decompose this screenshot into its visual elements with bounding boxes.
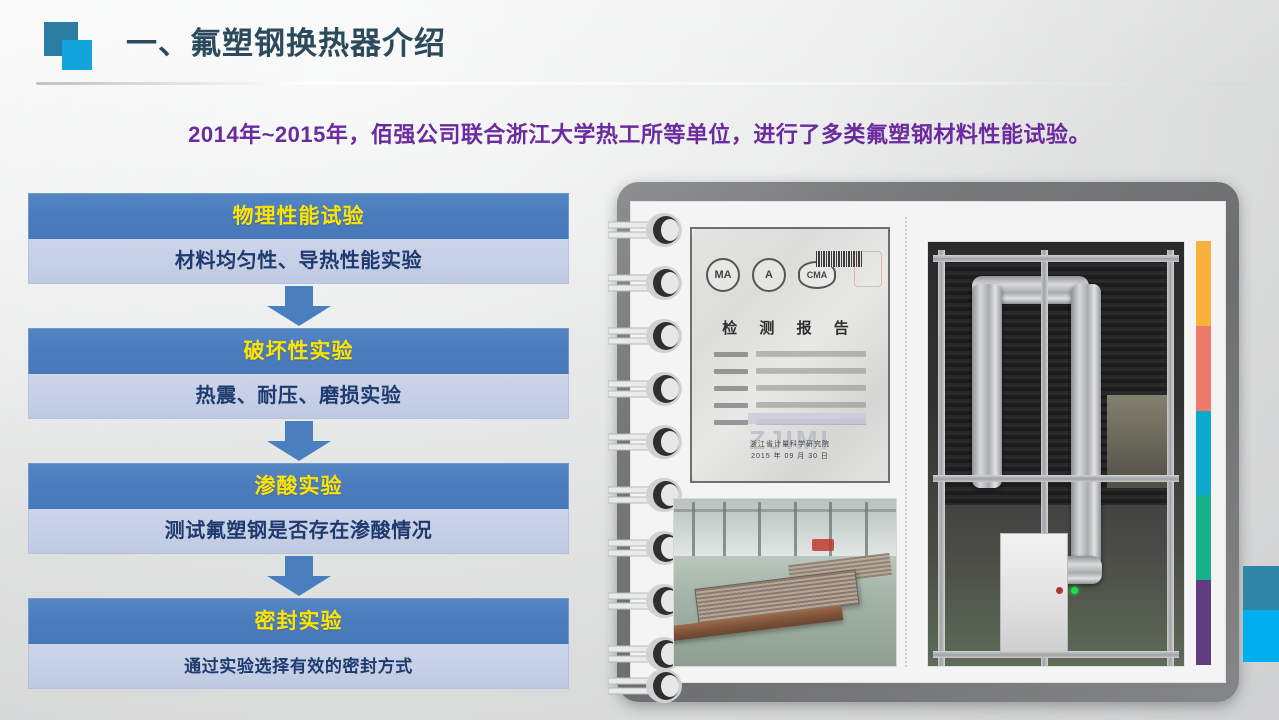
workshop-column [692, 502, 695, 555]
subtitle-text: 2014年~2015年，佰强公司联合浙江大学热工所等单位，进行了多类氟塑钢材料性… [0, 117, 1279, 149]
red-stamp-icon [854, 251, 882, 287]
slide-header: 一、氟塑钢换热器介绍 [0, 0, 1279, 96]
edge-accent-teal [1243, 566, 1279, 610]
binding-ring-icon [608, 319, 684, 353]
binding-ring-icon [608, 669, 684, 703]
insulated-duct-left [972, 284, 1002, 488]
arrow-down-icon [263, 556, 335, 596]
field-label [714, 386, 748, 391]
flow-arrow-2 [28, 419, 569, 463]
workshop-column [794, 502, 797, 555]
field-label [714, 420, 748, 425]
document-footer: 浙江省计量科学研究院 2015 年 09 月 30 日 [692, 439, 888, 463]
photo-workshop-tube-bundle[interactable] [673, 498, 897, 667]
notebook-page: MA A CMA 检 测 报 告 ZJIMI [630, 201, 1226, 683]
document-field-row [714, 351, 866, 357]
highlighted-field [748, 413, 866, 424]
binding-ring-icon [608, 266, 684, 300]
edge-accent-blue [1243, 610, 1279, 662]
frame-post-left [938, 250, 945, 666]
ma-mark-icon: MA [706, 258, 740, 292]
flow-step-1: 物理性能试验 材料均匀性、导热性能实验 [28, 193, 569, 284]
photo-test-report[interactable]: MA A CMA 检 测 报 告 ZJIMI [690, 227, 890, 483]
flow-step-4-title: 密封实验 [28, 598, 569, 644]
flow-step-3: 渗酸实验 测试氟塑钢是否存在渗酸情况 [28, 463, 569, 554]
workshop-roof [674, 499, 896, 556]
workshop-column [723, 502, 726, 555]
color-strip-segment-green [1196, 495, 1211, 580]
header-divider [36, 82, 1251, 85]
color-strip-segment-purple [1196, 580, 1211, 665]
workshop-column [758, 502, 761, 555]
field-value [756, 368, 866, 374]
document-footer-org: 浙江省计量科学研究院 [692, 439, 888, 451]
color-strip-segment-orange [1196, 241, 1211, 326]
page-title: 一、氟塑钢换热器介绍 [126, 18, 446, 63]
header-square-light-icon [62, 40, 92, 70]
field-value [756, 402, 866, 408]
flow-arrow-3 [28, 554, 569, 598]
flow-step-2-title: 破坏性实验 [28, 328, 569, 374]
arrow-down-icon [263, 421, 335, 461]
flow-step-3-desc: 测试氟塑钢是否存在渗酸情况 [28, 509, 569, 554]
frame-post-right [1167, 250, 1174, 666]
field-value [756, 385, 866, 391]
document-field-row [714, 402, 866, 408]
slide-canvas: 一、氟塑钢换热器介绍 2014年~2015年，佰强公司联合浙江大学热工所等单位，… [0, 0, 1279, 720]
field-value [756, 351, 866, 357]
experiment-flow-list: 物理性能试验 材料均匀性、导热性能实验 破坏性实验 热震、耐压、磨损实验 渗酸实… [28, 193, 569, 689]
document-footer-date: 2015 年 09 月 30 日 [692, 451, 888, 463]
binding-ring-icon [608, 372, 684, 406]
frame-rail-top [933, 255, 1179, 262]
roof-beam [674, 509, 896, 512]
document-field-row [714, 385, 866, 391]
flow-arrow-1 [28, 284, 569, 328]
flow-step-2: 破坏性实验 热震、耐压、磨损实验 [28, 328, 569, 419]
test-rig-scene [928, 242, 1184, 666]
doorway-opening [1107, 395, 1174, 488]
binding-ring-icon [608, 213, 684, 247]
notebook-panel: MA A CMA 检 测 报 告 ZJIMI [617, 182, 1239, 702]
a-mark-icon: A [752, 258, 786, 292]
flow-step-2-desc: 热震、耐压、磨损实验 [28, 374, 569, 419]
flow-step-1-desc: 材料均匀性、导热性能实验 [28, 239, 569, 284]
field-label [714, 369, 748, 374]
flow-step-1-title: 物理性能试验 [28, 193, 569, 239]
flow-step-3-title: 渗酸实验 [28, 463, 569, 509]
forklift-icon [812, 539, 834, 551]
color-strip-segment-coral [1196, 326, 1211, 411]
notebook-column-divider [905, 217, 907, 667]
frame-rail-middle [933, 475, 1179, 482]
flow-step-4-desc: 通过实验选择有效的密封方式 [28, 644, 569, 689]
document-field-row [714, 368, 866, 374]
power-led-icon [1071, 587, 1078, 594]
workshop-scene [674, 499, 896, 666]
color-strip-segment-cyan [1196, 411, 1211, 496]
field-label [714, 403, 748, 408]
binding-ring-icon [608, 425, 684, 459]
document-paper: MA A CMA 检 测 报 告 ZJIMI [692, 229, 888, 481]
flow-step-4: 密封实验 通过实验选择有效的密封方式 [28, 598, 569, 689]
field-label [714, 352, 748, 357]
emergency-stop-icon [1056, 587, 1063, 594]
insulated-duct-right [1071, 284, 1101, 572]
color-strip [1196, 241, 1211, 665]
document-title: 检 测 报 告 [692, 317, 888, 338]
arrow-down-icon [263, 286, 335, 326]
workshop-column [865, 502, 868, 555]
photo-test-rig[interactable] [927, 241, 1185, 667]
